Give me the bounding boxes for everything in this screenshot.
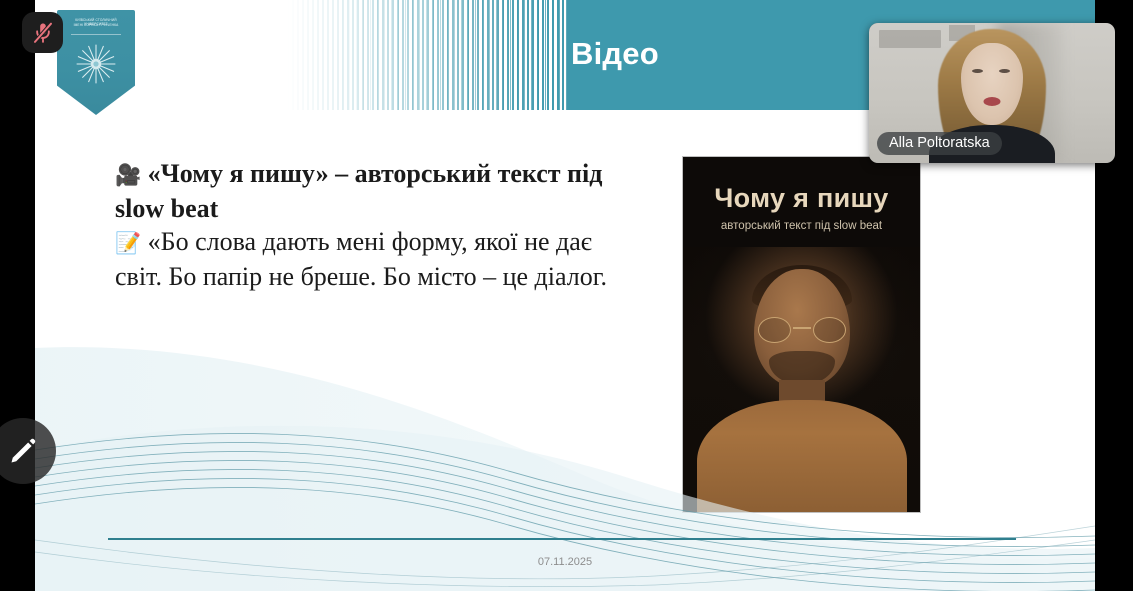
movie-camera-icon: 🎥 — [115, 163, 141, 187]
participant-eye-left — [972, 69, 983, 73]
glasses-bridge — [793, 327, 811, 329]
slide-body-quote-line: 📝 «Бо слова дають мені форму, якої не да… — [115, 225, 635, 293]
emblem-starburst-icon — [74, 42, 118, 86]
slide-body-quote: «Бо слова дають мені форму, якої не дає … — [115, 227, 607, 291]
slide-title: Відео — [571, 36, 659, 72]
video-wall-frame — [879, 30, 941, 48]
poster-image: Чому я пишу авторський текст під slow be… — [683, 157, 920, 512]
participant-video-tile[interactable]: Alla Poltoratska — [869, 23, 1115, 163]
poster-photo-backdrop — [683, 247, 920, 512]
microphone-muted-icon — [30, 20, 56, 46]
decorative-wave-graphic — [35, 330, 1095, 591]
slide-date: 07.11.2025 — [35, 556, 1095, 568]
meeting-screen-share-view: Відео КИЇВСЬКИЙ СТОЛИЧНИЙ УНІВЕРСИТЕТ ІМ… — [0, 0, 1133, 591]
university-emblem: КИЇВСЬКИЙ СТОЛИЧНИЙ УНІВЕРСИТЕТ ІМЕНІ БО… — [57, 10, 135, 115]
poster-subtitle: авторський текст під slow beat — [683, 220, 920, 232]
pencil-icon — [8, 436, 38, 466]
poster-subject-sweater — [697, 400, 907, 512]
slide-body-text: 🎥 «Чому я пишу» – авторський текст під s… — [115, 157, 635, 293]
glasses-lens-right — [813, 317, 846, 343]
poster-title: Чому я пишу — [683, 183, 920, 214]
emblem-text-line2: ІМЕНІ БОРИСА ГРІНЧЕНКА — [63, 23, 129, 27]
header-stripe-pattern-fine — [335, 0, 569, 110]
participant-mouth — [984, 97, 1001, 106]
mute-indicator[interactable] — [22, 12, 63, 53]
memo-icon: 📝 — [115, 231, 141, 255]
participant-name-label: Alla Poltoratska — [877, 132, 1002, 155]
poster-subject-glasses-icon — [756, 317, 848, 343]
slide-body-heading: «Чому я пишу» – авторський текст під slo… — [115, 159, 602, 223]
emblem-divider — [71, 34, 121, 35]
glasses-lens-left — [758, 317, 791, 343]
slide-body-heading-line: 🎥 «Чому я пишу» – авторський текст під s… — [115, 157, 635, 225]
slide-footer-rule — [108, 538, 1016, 540]
participant-eye-right — [999, 69, 1010, 73]
